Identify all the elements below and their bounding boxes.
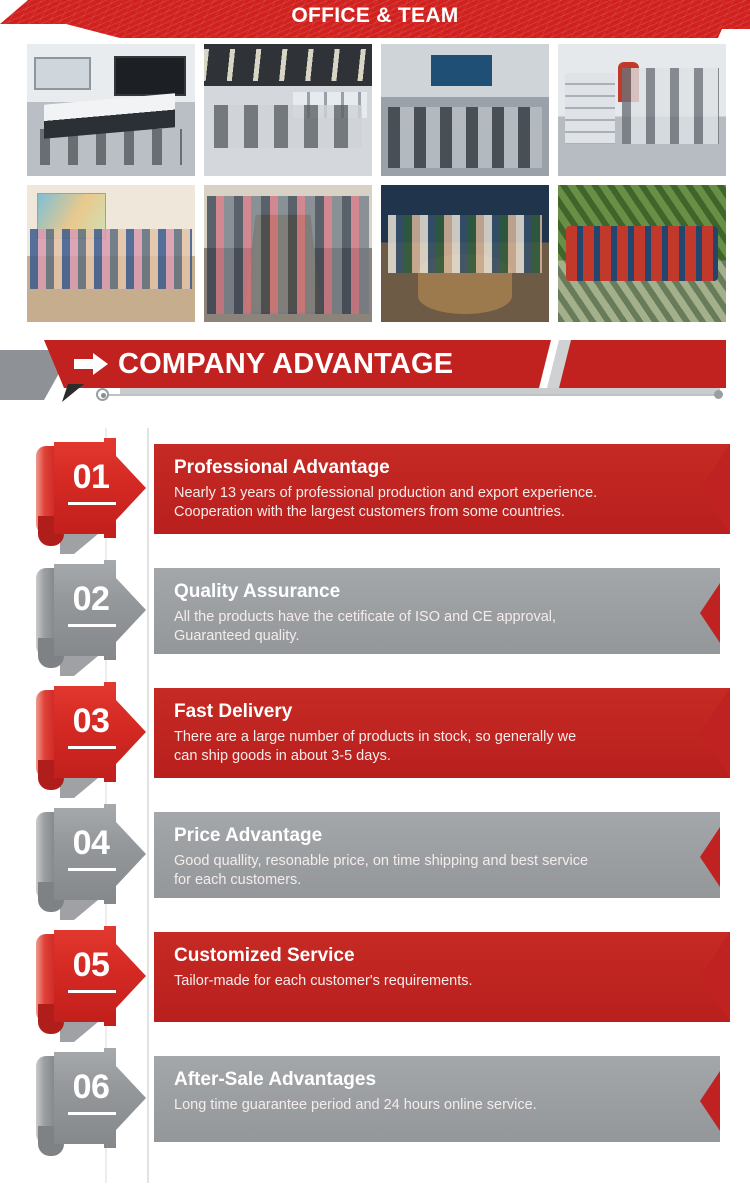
- desc-line-1: Long time guarantee period and 24 hours …: [174, 1096, 674, 1115]
- advantage-description: Nearly 13 years of professional producti…: [174, 484, 674, 522]
- advantage-banner-05: Customized Service Tailor-made for each …: [154, 932, 730, 1022]
- desc-line-1: Nearly 13 years of professional producti…: [174, 484, 674, 503]
- advantage-banner-06: After-Sale Advantages Long time guarante…: [154, 1056, 720, 1142]
- desc-line-2: Guaranteed quality.: [174, 627, 674, 646]
- ribbon-02: 02: [36, 560, 146, 660]
- advantage-title: Quality Assurance: [174, 580, 674, 604]
- photo-team-dinner-celebration: [381, 185, 549, 322]
- photo-conference-room-with-tv: [27, 44, 195, 176]
- ribbon-underline: [68, 1112, 116, 1115]
- company-advantage-title: COMPANY ADVANTAGE: [118, 344, 453, 384]
- photo-team-meeting-presentation: [381, 44, 549, 176]
- photo-team-group-photo-with-map: [27, 185, 195, 322]
- advantage-description: Tailor-made for each customer's requirem…: [174, 972, 674, 991]
- advantage-number: 02: [54, 582, 128, 616]
- divider-dot-right: [714, 390, 723, 399]
- advantage-item-05: 05 Customized Service Tailor-made for ea…: [0, 916, 750, 1038]
- divider-dot-left: [96, 388, 109, 401]
- advantage-description: Good quallity, resonable price, on time …: [174, 852, 674, 890]
- advantage-item-01: 01 Professional Advantage Nearly 13 year…: [0, 428, 750, 550]
- advantage-number: 01: [54, 460, 128, 494]
- advantage-title: Price Advantage: [174, 824, 674, 848]
- ribbon-underline: [68, 502, 116, 505]
- advantage-item-06: 06 After-Sale Advantages Long time guara…: [0, 1038, 750, 1166]
- advantage-list: 01 Professional Advantage Nearly 13 year…: [0, 428, 750, 1166]
- ribbon-underline: [68, 624, 116, 627]
- desc-line-1: All the products have the cetificate of …: [174, 608, 674, 627]
- advantage-number: 05: [54, 948, 128, 982]
- advantage-title: Customized Service: [174, 944, 674, 968]
- advantage-number: 06: [54, 1070, 128, 1104]
- ribbon-underline: [68, 868, 116, 871]
- photo-office-workstations: [558, 44, 726, 176]
- banner-text-block: After-Sale Advantages Long time guarante…: [174, 1068, 674, 1115]
- desc-line-1: Good quallity, resonable price, on time …: [174, 852, 674, 871]
- photo-team-outdoor-group-photo: [558, 185, 726, 322]
- office-team-banner: OFFICE & TEAM: [0, 0, 750, 48]
- ribbon-06: 06: [36, 1048, 146, 1148]
- advantage-item-03: 03 Fast Delivery There are a large numbe…: [0, 672, 750, 794]
- advantage-banner-01: Professional Advantage Nearly 13 years o…: [154, 444, 730, 534]
- advantage-description: All the products have the cetificate of …: [174, 608, 674, 646]
- advantage-banner-04: Price Advantage Good quallity, resonable…: [154, 812, 720, 898]
- desc-line-1: Tailor-made for each customer's requirem…: [174, 972, 674, 991]
- desc-line-1: There are a large number of products in …: [174, 728, 674, 747]
- photo-row-1: [27, 44, 727, 176]
- banner-text-block: Professional Advantage Nearly 13 years o…: [174, 456, 674, 522]
- advantage-number: 03: [54, 704, 128, 738]
- advantage-description: Long time guarantee period and 24 hours …: [174, 1096, 674, 1115]
- ribbon-04: 04: [36, 804, 146, 904]
- photo-row-2: [27, 185, 727, 322]
- advantage-item-02: 02 Quality Assurance All the products ha…: [0, 550, 750, 672]
- banner-text-block: Fast Delivery There are a large number o…: [174, 700, 674, 766]
- office-team-title: OFFICE & TEAM: [0, 4, 750, 28]
- ribbon-underline: [68, 746, 116, 749]
- ribbon-03: 03: [36, 682, 146, 782]
- banner-text-block: Customized Service Tailor-made for each …: [174, 944, 674, 991]
- advantage-title: Professional Advantage: [174, 456, 674, 480]
- advantage-banner-03: Fast Delivery There are a large number o…: [154, 688, 730, 778]
- desc-line-2: for each customers.: [174, 871, 674, 890]
- advantage-item-04: 04 Price Advantage Good quallity, resona…: [0, 794, 750, 916]
- advantage-description: There are a large number of products in …: [174, 728, 674, 766]
- banner-text-block: Quality Assurance All the products have …: [174, 580, 674, 646]
- advantage-banner-02: Quality Assurance All the products have …: [154, 568, 720, 654]
- office-photo-grid: [27, 44, 727, 322]
- photo-open-plan-office-desks: [204, 44, 372, 176]
- page-root: OFFICE & TEAM: [0, 0, 750, 1189]
- header-divider-line: [103, 394, 721, 396]
- advantage-title: After-Sale Advantages: [174, 1068, 674, 1092]
- banner-text-block: Price Advantage Good quallity, resonable…: [174, 824, 674, 890]
- advantage-number: 04: [54, 826, 128, 860]
- ribbon-underline: [68, 990, 116, 993]
- photo-team-long-table-meeting: [204, 185, 372, 322]
- desc-line-2: can ship goods in about 3-5 days.: [174, 747, 674, 766]
- ribbon-01: 01: [36, 438, 146, 538]
- ribbon-05: 05: [36, 926, 146, 1026]
- desc-line-2: Cooperation with the largest customers f…: [174, 503, 674, 522]
- advantage-title: Fast Delivery: [174, 700, 674, 724]
- arrow-right-icon: [74, 353, 108, 375]
